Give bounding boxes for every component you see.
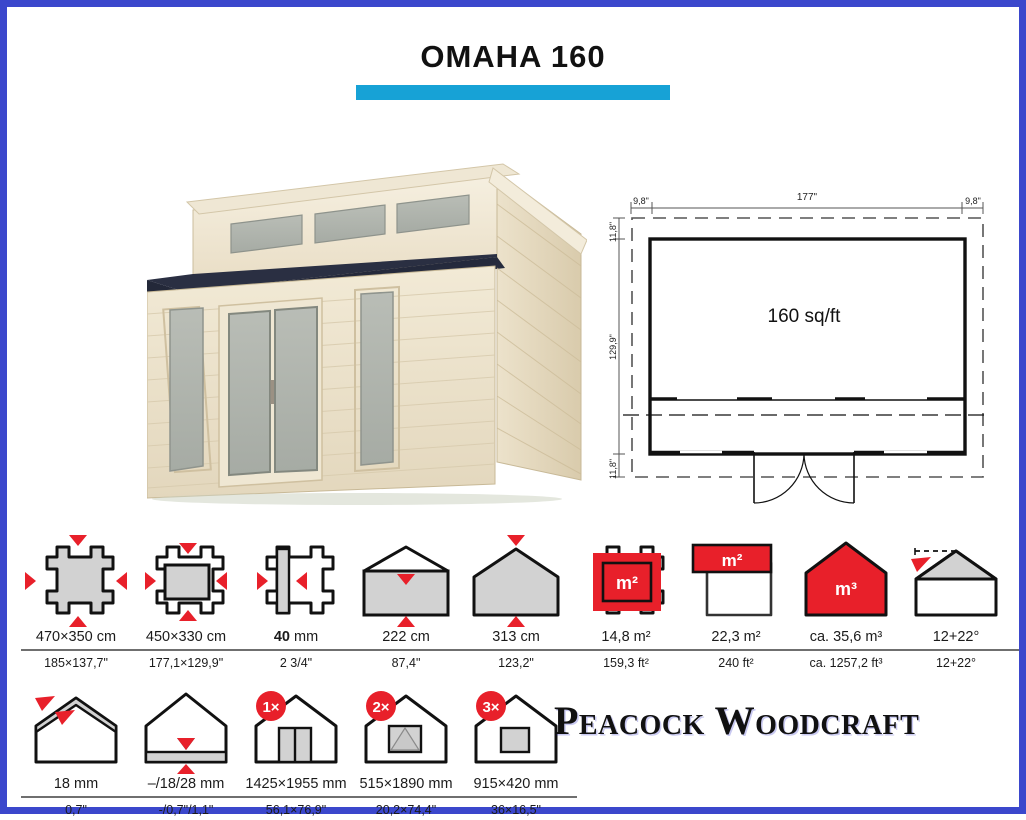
door-icon: 1×: [241, 679, 351, 774]
window-tall-count-badge: 2×: [372, 699, 389, 716]
spec-item-wall-height: 222 cm: [351, 532, 461, 648]
spec-imperial: 87,4": [392, 653, 421, 673]
title-underline-bar: [356, 85, 670, 100]
spec-imperial-cell: ca. 1257,2 ft³: [791, 653, 901, 673]
spec-imperial-cell: 87,4": [351, 653, 461, 673]
spec-item-floor-area: m² 14,8 m²: [571, 532, 681, 648]
specifications: 470×350 cm: [21, 532, 1019, 820]
spec-item-roof-board-thickness: 18 mm: [21, 679, 131, 795]
floor-area-icon: m²: [571, 532, 681, 627]
spec-metric: –/18/28 mm: [148, 774, 225, 795]
window-small-count-badge: 3×: [482, 699, 499, 716]
spec-metric: ca. 35,6 m³: [810, 627, 883, 648]
spec-imperial-cell: 240 ft²: [681, 653, 791, 673]
spec-item-wall-thickness: 40 mm: [241, 532, 351, 648]
plan-dim-left-bottom: 11,8": [608, 459, 618, 479]
svg-text:m²: m²: [616, 573, 638, 593]
spec-imperial-cell: 56,1×76,9": [241, 800, 351, 820]
spec-imperial-cell: -/0,7"/1,1": [131, 800, 241, 820]
spec-imperial: 240 ft²: [718, 653, 753, 673]
svg-text:m²: m²: [722, 551, 743, 570]
spec-metric: 22,3 m²: [711, 627, 760, 648]
spec-item-door: 1× 1425×1955 mm: [241, 679, 351, 795]
spec-item-roof-area: m² 22,3 m²: [681, 532, 791, 648]
spec-item-outer-dimensions: 470×350 cm: [21, 532, 131, 648]
spec-imperial: 56,1×76,9": [266, 800, 326, 820]
spec-metric: 313 cm: [492, 627, 540, 648]
spec-item-ridge-height: 313 cm: [461, 532, 571, 648]
spec-metric-rest: mm: [290, 629, 318, 645]
spec-imperial: 185×137,7": [44, 653, 108, 673]
window-tall-icon: 2×: [351, 679, 461, 774]
spec-imperial: -/0,7"/1,1": [159, 800, 214, 820]
spec-metric: 14,8 m²: [601, 627, 650, 648]
spec-imperial: 0,7": [65, 800, 87, 820]
spec-metric: 18 mm: [54, 774, 98, 795]
spec-imperial-cell: 12+22°: [901, 653, 1011, 673]
spec-imperial: 123,2": [498, 653, 534, 673]
spec-metric: 12+22°: [933, 627, 980, 648]
spec-imperial: 20,2×74,4": [376, 800, 436, 820]
inner-dimensions-icon: [131, 532, 241, 627]
spec-imperial: ca. 1257,2 ft³: [810, 653, 883, 673]
spec-item-inner-dimensions: 450×330 cm: [131, 532, 241, 648]
header: OMAHA 160: [7, 39, 1019, 100]
cabin-illustration: [147, 162, 587, 507]
spec-imperial: 36×16,5": [491, 800, 541, 820]
spec-imperial-cell: 177,1×129,9": [131, 653, 241, 673]
spec-metric: 470×350 cm: [36, 627, 116, 648]
spec-row-1: 470×350 cm: [21, 532, 1019, 648]
spec-metric: 1425×1955 mm: [245, 774, 346, 795]
svg-text:m³: m³: [835, 579, 857, 599]
spec-metric: 515×1890 mm: [359, 774, 452, 795]
spec-imperial: 159,3 ft²: [603, 653, 649, 673]
volume-icon: m³: [791, 532, 901, 627]
product-photo: [147, 162, 587, 507]
plan-dim-left-top: 11,8": [608, 222, 618, 242]
spec-imperial: 177,1×129,9": [149, 653, 223, 673]
spec-row-1-imperial: 185×137,7" 177,1×129,9" 2 3/4" 87,4" 123…: [21, 653, 1019, 673]
spec-divider-1: [21, 649, 1019, 651]
wall-height-icon: [351, 532, 461, 627]
outer-dimensions-icon: [21, 532, 131, 627]
roof-pitch-icon: [901, 532, 1011, 627]
spec-imperial-cell: 2 3/4": [241, 653, 351, 673]
spec-metric: 40 mm: [274, 627, 318, 648]
spec-item-roof-pitch: 12+22°: [901, 532, 1011, 648]
floor-plan-drawing: 177" 9,8" 9,8" 11,8" 129,9" 11,8": [607, 177, 1007, 507]
plan-dim-left-mid: 129,9": [608, 334, 618, 360]
plan-dim-overhang-right: 9,8": [965, 196, 981, 206]
plan-dim-overhang-left: 9,8": [633, 196, 649, 206]
spec-imperial-cell: 123,2": [461, 653, 571, 673]
plan-area-label: 160 sq/ft: [768, 306, 842, 327]
spec-divider-2: [21, 796, 577, 798]
roof-area-icon: m²: [681, 532, 791, 627]
spec-imperial-cell: 0,7": [21, 800, 131, 820]
spec-item-window-tall: 2× 515×1890 mm: [351, 679, 461, 795]
wall-thickness-icon: [241, 532, 351, 627]
spec-metric: 222 cm: [382, 627, 430, 648]
floor-board-thickness-icon: [131, 679, 241, 774]
brand-logo: Peacock Woodcraft: [554, 697, 919, 744]
roof-board-thickness-icon: [21, 679, 131, 774]
spec-metric: 915×420 mm: [473, 774, 558, 795]
door-count-badge: 1×: [262, 699, 279, 716]
spec-imperial-cell: 185×137,7": [21, 653, 131, 673]
spec-imperial: 12+22°: [936, 653, 976, 673]
spec-imperial-cell: 159,3 ft²: [571, 653, 681, 673]
floor-plan: 177" 9,8" 9,8" 11,8" 129,9" 11,8": [607, 177, 1007, 507]
spec-imperial-cell: 20,2×74,4": [351, 800, 461, 820]
plan-dim-width: 177": [797, 192, 818, 203]
spec-item-floor-board-thickness: –/18/28 mm: [131, 679, 241, 795]
spec-metric-bold: 40: [274, 629, 290, 645]
product-sheet-page: OMAHA 160: [0, 0, 1026, 814]
spec-metric: 450×330 cm: [146, 627, 226, 648]
spec-imperial-cell: 36×16,5": [461, 800, 571, 820]
spec-item-volume: m³ ca. 35,6 m³: [791, 532, 901, 648]
ridge-height-icon: [461, 532, 571, 627]
page-title: OMAHA 160: [7, 39, 1019, 75]
spec-imperial: 2 3/4": [280, 653, 312, 673]
spec-row-2-imperial: 0,7" -/0,7"/1,1" 56,1×76,9" 20,2×74,4" 3…: [21, 800, 1019, 820]
